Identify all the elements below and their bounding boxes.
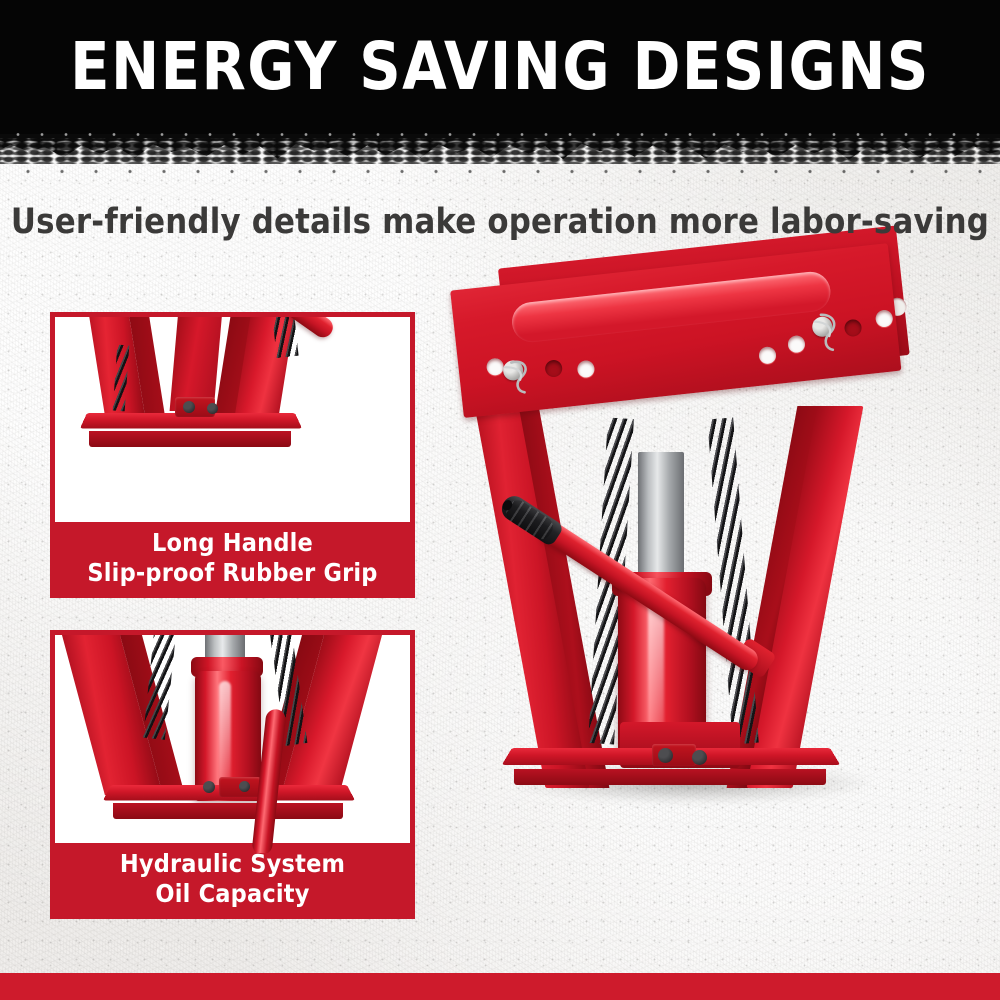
beam-hole bbox=[544, 359, 563, 378]
bolt-icon bbox=[203, 781, 215, 793]
page-title: ENERGY SAVING DESIGNS bbox=[15, 34, 985, 100]
feature-caption-long-handle: Long Handle Slip-proof Rubber Grip bbox=[55, 522, 410, 593]
main-product-image bbox=[452, 256, 952, 956]
beam-hole bbox=[577, 360, 596, 379]
beam-reinforcement-lip bbox=[510, 270, 832, 344]
base-plate-edge bbox=[113, 803, 343, 819]
right-return-spring bbox=[707, 417, 758, 744]
inset-product-hydraulic-jack bbox=[55, 635, 410, 853]
beam-hole bbox=[875, 309, 894, 328]
subtitle-text: User-friendly details make operation mor… bbox=[10, 202, 990, 242]
chrome-ram bbox=[638, 452, 684, 590]
bolt-icon bbox=[658, 748, 673, 763]
r-clip-wire-icon bbox=[497, 348, 536, 397]
bolt-icon bbox=[183, 401, 195, 413]
jack-highlight bbox=[219, 681, 231, 785]
beam-hole bbox=[787, 335, 806, 354]
feature-card-hydraulic-system: Hydraulic System Oil Capacity bbox=[50, 630, 415, 919]
beam-hole bbox=[758, 346, 777, 365]
header-bar: ENERGY SAVING DESIGNS bbox=[0, 0, 1000, 133]
bolt-icon bbox=[239, 781, 250, 792]
feature-card-long-handle: Long Handle Slip-proof Rubber Grip bbox=[50, 312, 415, 598]
inset-product-base-handle bbox=[55, 317, 410, 532]
promo-banner: ENERGY SAVING DESIGNS User-friendly deta… bbox=[0, 0, 1000, 1000]
bottom-accent-bar bbox=[0, 973, 1000, 1000]
caption-line-2: Oil Capacity bbox=[155, 879, 309, 909]
caption-line-1: Long Handle bbox=[152, 528, 313, 558]
r-clip-wire-icon bbox=[806, 305, 845, 354]
bolt-icon bbox=[207, 403, 218, 414]
feature-photo-hydraulic-system bbox=[55, 635, 410, 853]
spring-coil bbox=[143, 635, 177, 740]
spring-coil bbox=[707, 417, 758, 744]
left-return-spring bbox=[143, 635, 177, 740]
feature-caption-hydraulic-system: Hydraulic System Oil Capacity bbox=[55, 843, 410, 914]
feature-photo-long-handle bbox=[55, 317, 410, 532]
base-plate-edge bbox=[89, 431, 291, 447]
caption-line-1: Hydraulic System bbox=[120, 849, 345, 879]
r-clip-pin-right bbox=[806, 305, 845, 354]
base-plate-edge bbox=[514, 769, 826, 785]
r-clip-pin-left bbox=[497, 348, 536, 397]
beam-hole bbox=[844, 319, 863, 338]
bolt-icon bbox=[692, 750, 707, 765]
caption-line-2: Slip-proof Rubber Grip bbox=[87, 558, 377, 588]
